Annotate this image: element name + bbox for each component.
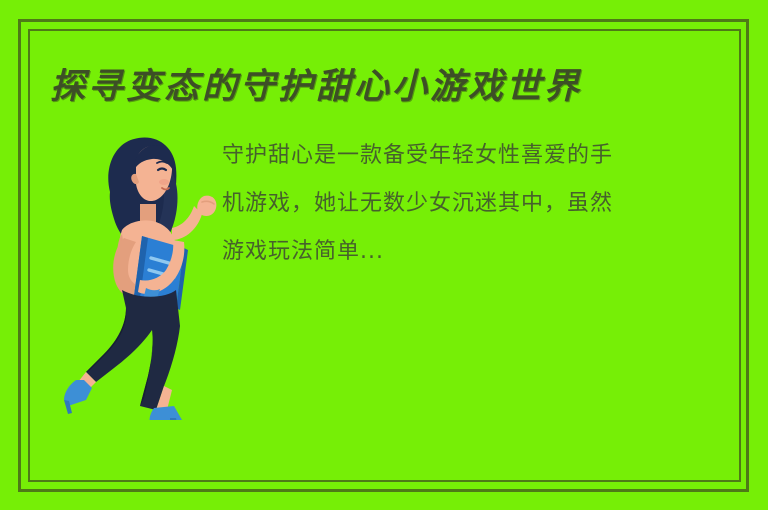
page-title: 探寻变态的守护甜心小游戏世界: [50, 58, 690, 109]
body-line-1: 守护甜心是一款备受年轻女性喜爱的手: [222, 132, 737, 180]
body-line-3: 游戏玩法简单...: [222, 228, 737, 276]
walking-woman-illustration: [52, 130, 217, 420]
poster-canvas: 探寻变态的守护甜心小游戏世界 守护甜心是一款备受年轻女性喜爱的手 机游戏，她让无…: [0, 0, 768, 510]
body-line-2: 机游戏，她让无数少女沉迷其中，虽然: [222, 180, 737, 228]
body-paragraph: 守护甜心是一款备受年轻女性喜爱的手 机游戏，她让无数少女沉迷其中，虽然 游戏玩法…: [222, 132, 737, 276]
